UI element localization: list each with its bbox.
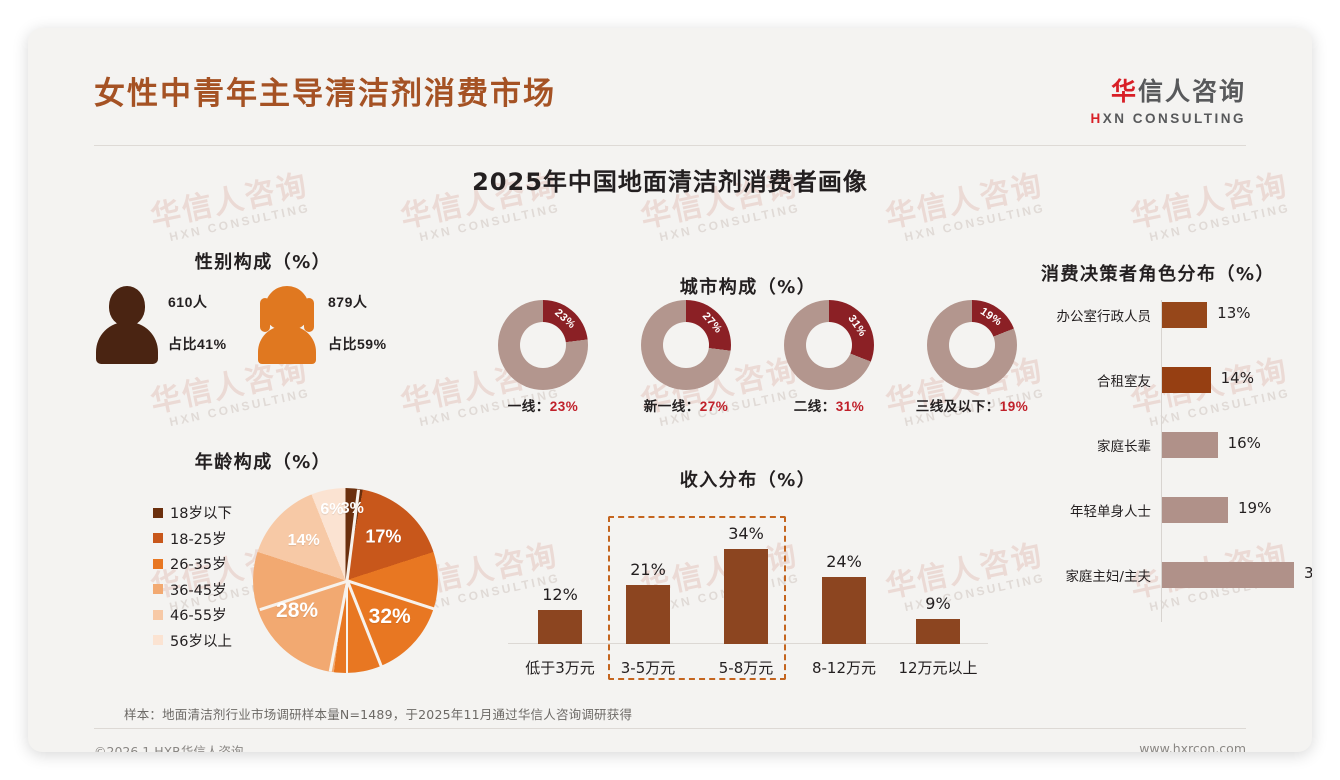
income-bar-rect bbox=[822, 577, 866, 644]
income-bar: 12% bbox=[538, 610, 582, 644]
legend-label: 46-55岁 bbox=[170, 604, 227, 625]
income-section-title: 收入分布（%） bbox=[498, 466, 998, 492]
gender-share: 占比41% bbox=[168, 334, 227, 354]
pie-value-label: 28% bbox=[276, 599, 318, 623]
legend-label: 36-45岁 bbox=[170, 579, 227, 600]
donut-hole bbox=[806, 322, 852, 368]
female-person-icon bbox=[256, 286, 318, 364]
infographic-slide: 华信人咨询HXN CONSULTING华信人咨询HXN CONSULTING华信… bbox=[28, 28, 1312, 752]
role-label: 年轻单身人士 bbox=[1070, 500, 1151, 520]
role-value-label: 14% bbox=[1221, 369, 1254, 387]
income-bar-rect bbox=[538, 610, 582, 644]
role-value-label: 13% bbox=[1217, 304, 1250, 322]
logo-chinese: 华信人咨询 bbox=[1091, 72, 1247, 108]
gender-chart: 610人占比41%879人占比59% bbox=[88, 284, 448, 384]
income-bar-rect bbox=[724, 549, 768, 644]
age-legend-item: 36-45岁 bbox=[153, 577, 249, 603]
donut-graphic: 19% bbox=[927, 300, 1017, 390]
chart-subtitle: 2025年中国地面清洁剂消费者画像 bbox=[28, 162, 1312, 197]
city-donut-chart: 23%一线：23%27%新一线：27%31%二线：31%19%三线及以下：19% bbox=[468, 300, 1028, 410]
income-bar-value: 12% bbox=[542, 585, 578, 604]
age-pie-graphic: 3%17%32%28%14%6% bbox=[253, 488, 438, 673]
role-label: 办公室行政人员 bbox=[1057, 305, 1152, 325]
sample-note: 样本：地面清洁剂行业市场调研样本量N=1489，于2025年11月通过华信人咨询… bbox=[124, 704, 632, 723]
role-bar-rect bbox=[1162, 562, 1294, 588]
income-category-label: 5-8万元 bbox=[691, 657, 801, 678]
donut-caption-value: 31% bbox=[836, 399, 865, 414]
donut-caption-value: 23% bbox=[550, 399, 579, 414]
donut-caption: 新一线：27% bbox=[611, 395, 761, 415]
city-section-title: 城市构成（%） bbox=[468, 273, 1028, 299]
role-bar-rect bbox=[1162, 432, 1218, 458]
donut-hole bbox=[520, 322, 566, 368]
role-bar-rect bbox=[1162, 302, 1207, 328]
brand-logo: 华信人咨询 HXN CONSULTING bbox=[1091, 72, 1247, 126]
gender-male-group: 610人占比41% bbox=[88, 284, 263, 384]
age-legend-item: 18岁以下 bbox=[153, 500, 249, 526]
gender-section-title: 性别构成（%） bbox=[88, 248, 438, 274]
age-pie-chart: 18岁以下18-25岁26-35岁36-45岁46-55岁56岁以上 3%17%… bbox=[153, 488, 453, 678]
donut-graphic: 27% bbox=[641, 300, 731, 390]
legend-swatch bbox=[153, 533, 163, 543]
footer-divider bbox=[94, 728, 1246, 729]
role-bar-rect bbox=[1162, 497, 1228, 523]
roles-bar-chart: 办公室行政人员13%合租室友14%家庭长辈16%年轻单身人士19%家庭主妇/主夫… bbox=[1013, 296, 1303, 636]
role-value-label: 38% bbox=[1304, 564, 1312, 582]
donut-caption: 二线：31% bbox=[754, 395, 904, 415]
logo-en-rest: XN CONSULTING bbox=[1103, 111, 1246, 126]
roles-section-title: 消费决策者角色分布（%） bbox=[1013, 260, 1303, 286]
income-bar-value: 34% bbox=[728, 524, 764, 543]
gender-count: 879人 bbox=[328, 292, 387, 312]
legend-swatch bbox=[153, 508, 163, 518]
age-section-title: 年龄构成（%） bbox=[88, 448, 438, 474]
male-person-icon bbox=[96, 286, 158, 364]
role-row: 家庭主妇/主夫38% bbox=[1013, 560, 1303, 590]
role-row: 家庭长辈16% bbox=[1013, 430, 1303, 460]
legend-label: 26-35岁 bbox=[170, 553, 227, 574]
legend-swatch bbox=[153, 584, 163, 594]
income-category-label: 3-5万元 bbox=[593, 657, 703, 678]
donut-graphic: 31% bbox=[784, 300, 874, 390]
role-row: 年轻单身人士19% bbox=[1013, 495, 1303, 525]
income-bar-value: 24% bbox=[826, 552, 862, 571]
age-legend-item: 56岁以上 bbox=[153, 628, 249, 654]
role-row: 办公室行政人员13% bbox=[1013, 300, 1303, 330]
income-bar: 34% bbox=[724, 549, 768, 644]
role-label: 家庭长辈 bbox=[1097, 435, 1151, 455]
pie-value-label: 17% bbox=[365, 527, 401, 548]
pie-value-label: 6% bbox=[320, 501, 343, 519]
donut-graphic: 23% bbox=[498, 300, 588, 390]
legend-label: 56岁以上 bbox=[170, 630, 232, 651]
role-value-label: 16% bbox=[1228, 434, 1261, 452]
donut-hole bbox=[663, 322, 709, 368]
age-legend-item: 18-25岁 bbox=[153, 526, 249, 552]
copyright-text: ©2026.1 HXR华信人咨询 bbox=[94, 741, 243, 752]
age-legend-item: 46-55岁 bbox=[153, 602, 249, 628]
role-value-label: 19% bbox=[1238, 499, 1271, 517]
pie-value-label: 32% bbox=[369, 605, 411, 629]
income-bar-rect bbox=[626, 585, 670, 644]
page-title: 女性中青年主导清洁剂消费市场 bbox=[94, 68, 556, 113]
income-bar-value: 21% bbox=[630, 560, 666, 579]
logo-en-accent: H bbox=[1091, 111, 1103, 126]
city-donut-item: 23%一线：23% bbox=[468, 300, 618, 415]
header-divider bbox=[94, 145, 1246, 146]
pie-value-label: 3% bbox=[341, 500, 364, 518]
age-legend-item: 26-35岁 bbox=[153, 551, 249, 577]
role-label: 家庭主妇/主夫 bbox=[1065, 565, 1151, 585]
gender-share: 占比59% bbox=[328, 334, 387, 354]
city-donut-item: 31%二线：31% bbox=[754, 300, 904, 415]
income-bar: 24% bbox=[822, 577, 866, 644]
legend-label: 18岁以下 bbox=[170, 502, 232, 523]
donut-hole bbox=[949, 322, 995, 368]
income-bar-rect bbox=[916, 619, 960, 644]
income-bar-value: 9% bbox=[925, 594, 950, 613]
legend-label: 18-25岁 bbox=[170, 528, 227, 549]
city-donut-item: 27%新一线：27% bbox=[611, 300, 761, 415]
gender-female-group: 879人占比59% bbox=[248, 284, 423, 384]
legend-swatch bbox=[153, 610, 163, 620]
gender-count: 610人 bbox=[168, 292, 227, 312]
legend-swatch bbox=[153, 635, 163, 645]
role-row: 合租室友14% bbox=[1013, 365, 1303, 395]
income-bar-chart: 12%低于3万元21%3-5万元34%5-8万元24%8-12万元9%12万元以… bbox=[498, 498, 998, 688]
donut-caption: 一线：23% bbox=[468, 395, 618, 415]
donut-caption-value: 27% bbox=[700, 399, 729, 414]
role-bar-rect bbox=[1162, 367, 1211, 393]
logo-english: HXN CONSULTING bbox=[1091, 111, 1247, 126]
logo-chinese-rest: 信人咨询 bbox=[1138, 78, 1246, 106]
income-bar: 9% bbox=[916, 619, 960, 644]
header: 女性中青年主导清洁剂消费市场 华信人咨询 HXN CONSULTING bbox=[28, 68, 1312, 146]
age-legend: 18岁以下18-25岁26-35岁36-45岁46-55岁56岁以上 bbox=[153, 500, 249, 653]
legend-swatch bbox=[153, 559, 163, 569]
role-label: 合租室友 bbox=[1097, 370, 1151, 390]
logo-accent-char: 华 bbox=[1111, 78, 1138, 106]
income-category-label: 12万元以上 bbox=[883, 657, 993, 678]
pie-value-label: 14% bbox=[288, 532, 320, 550]
income-bar: 21% bbox=[626, 585, 670, 644]
website-text: www.hxrcon.com bbox=[1139, 741, 1246, 752]
